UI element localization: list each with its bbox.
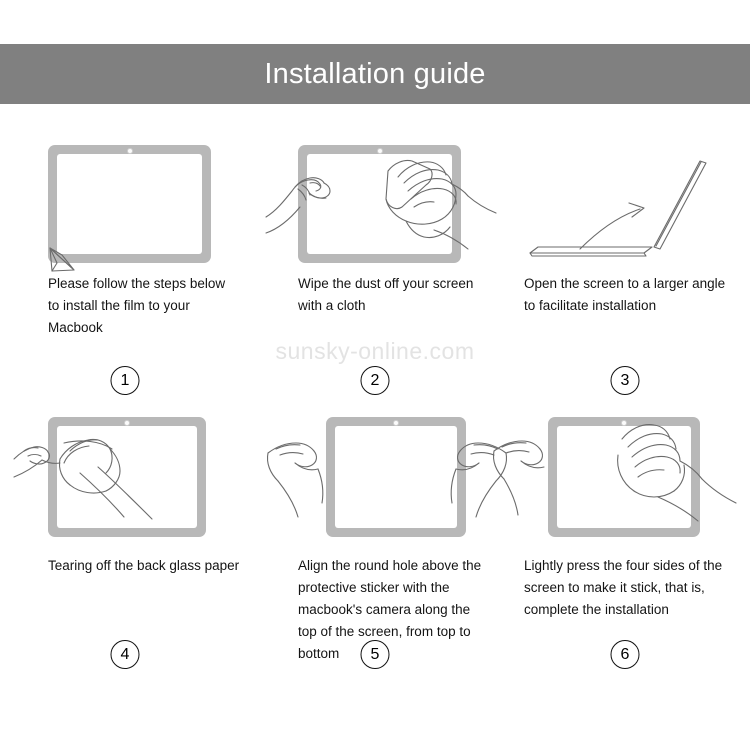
camera-dot-icon <box>124 420 130 426</box>
step-caption: Please follow the steps below to install… <box>48 273 240 339</box>
page-title: Installation guide <box>264 60 485 89</box>
step-number-badge: 6 <box>611 640 640 669</box>
step-5-illustration <box>298 407 480 547</box>
camera-dot-icon <box>127 148 133 154</box>
step-caption: Open the screen to a larger angle to fac… <box>524 273 739 317</box>
step-caption: Lightly press the four sides of the scre… <box>524 555 739 621</box>
step-number-badge: 4 <box>111 640 140 669</box>
header-banner: Installation guide <box>0 44 750 104</box>
device-screen-frame <box>548 417 700 537</box>
step-number-badge: 3 <box>611 366 640 395</box>
screen-glass <box>57 426 197 528</box>
steps-grid: Please follow the steps below to install… <box>0 125 750 745</box>
step-card-3: Open the screen to a larger angle to fac… <box>500 125 750 407</box>
screen-glass <box>57 154 202 254</box>
step-caption: Wipe the dust off your screen with a clo… <box>298 273 490 317</box>
step-1-illustration <box>48 125 230 265</box>
camera-dot-icon <box>621 420 627 426</box>
camera-dot-icon <box>377 148 383 154</box>
screen-glass <box>307 154 452 254</box>
device-screen-frame <box>48 145 211 263</box>
step-caption: Align the round hole above the protectiv… <box>298 555 490 665</box>
step-4-illustration <box>48 407 230 547</box>
step-2-illustration <box>298 125 480 265</box>
step-card-5: Align the round hole above the protectiv… <box>250 407 500 707</box>
camera-dot-icon <box>393 420 399 426</box>
device-screen-frame <box>326 417 466 537</box>
step-caption: Tearing off the back glass paper <box>48 555 240 577</box>
device-screen-frame <box>298 145 461 263</box>
device-screen-frame <box>48 417 206 537</box>
step-number-badge: 5 <box>361 640 390 669</box>
step-6-illustration <box>524 407 730 547</box>
laptop-open-angle-icon <box>488 125 738 275</box>
screen-glass <box>335 426 457 528</box>
step-3-illustration <box>524 125 730 265</box>
screen-glass <box>557 426 691 528</box>
step-number-badge: 2 <box>361 366 390 395</box>
step-card-6: Lightly press the four sides of the scre… <box>500 407 750 707</box>
step-card-4: Tearing off the back glass paper 4 <box>0 407 250 707</box>
step-card-2: Wipe the dust off your screen with a clo… <box>250 125 500 407</box>
step-number-badge: 1 <box>111 366 140 395</box>
step-card-1: Please follow the steps below to install… <box>0 125 250 407</box>
